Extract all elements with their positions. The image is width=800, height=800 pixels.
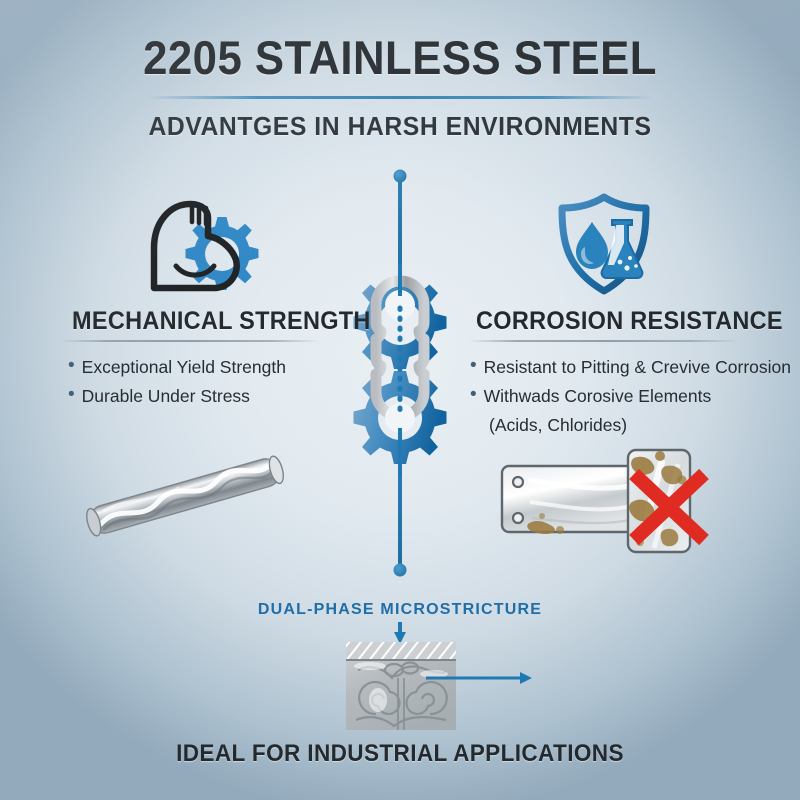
header: 2205 STAINLESS STEEL ADVANTGES IN HARSH … [0,34,800,142]
right-section-bullets: • Resistant to Pitting & Crevive Corrosi… [470,355,791,442]
fist-knuckles [192,206,206,224]
bullet-dot: • [470,384,477,407]
water-droplet-icon [576,222,608,269]
list-item: • Withwads Corosive Elements [470,384,791,409]
left-section-bullets: • Exceptional Yield Strength • Durable U… [68,355,286,413]
footer-tagline: IDEAL FOR INDUSTRIAL APPLICATIONS [24,740,776,768]
vertical-rusted-plate [628,450,704,552]
spine-dot-top [394,170,407,183]
bullet-dot: • [470,355,477,378]
shield-droplet-flask-icon [548,192,660,296]
right-section-heading: CORROSION RESISTANCE [476,307,783,336]
bullet-text: (Acids, Chlorides) [470,413,627,438]
spine-dot-bottom [394,564,407,577]
dual-phase-microstructure-diagram [318,622,540,732]
hatched-surface-band [346,642,456,660]
list-item: • Exceptional Yield Strength [68,355,286,380]
title-divider [146,96,654,99]
page-title: 2205 STAINLESS STEEL [28,34,772,81]
twisted-steel-rod-image [72,444,298,548]
right-section-divider [468,340,740,342]
left-section-divider [60,340,320,342]
flexed-bicep-gear-icon [142,196,268,294]
center-spine-bottom [398,470,402,570]
bullet-text: Resistant to Pitting & Crevive Corrosion [484,355,791,380]
list-item-continuation: (Acids, Chlorides) [470,413,791,438]
list-item: • Durable Under Stress [68,384,286,409]
microstructure-label: DUAL-PHASE MICROSTRICTURE [0,601,800,619]
bullet-dot: • [68,355,75,378]
rusted-metal-plates-image [498,444,724,556]
list-item: • Resistant to Pitting & Crevive Corrosi… [470,355,791,380]
infographic-page: 2205 STAINLESS STEEL ADVANTGES IN HARSH … [0,0,800,800]
gear-shape-left [186,217,259,290]
bullet-dot: • [68,384,75,407]
page-subtitle: ADVANTGES IN HARSH ENVIRONMENTS [20,111,780,142]
input-arrow [394,622,406,644]
horizontal-metal-plate [502,466,634,534]
bullet-text: Exceptional Yield Strength [82,355,286,380]
dual-gear-chain-link-icon [325,263,475,478]
bullet-text: Durable Under Stress [82,384,250,409]
bullet-text: Withwads Corosive Elements [484,384,712,409]
left-section-heading: MECHANICAL STRENGTH [72,307,371,336]
